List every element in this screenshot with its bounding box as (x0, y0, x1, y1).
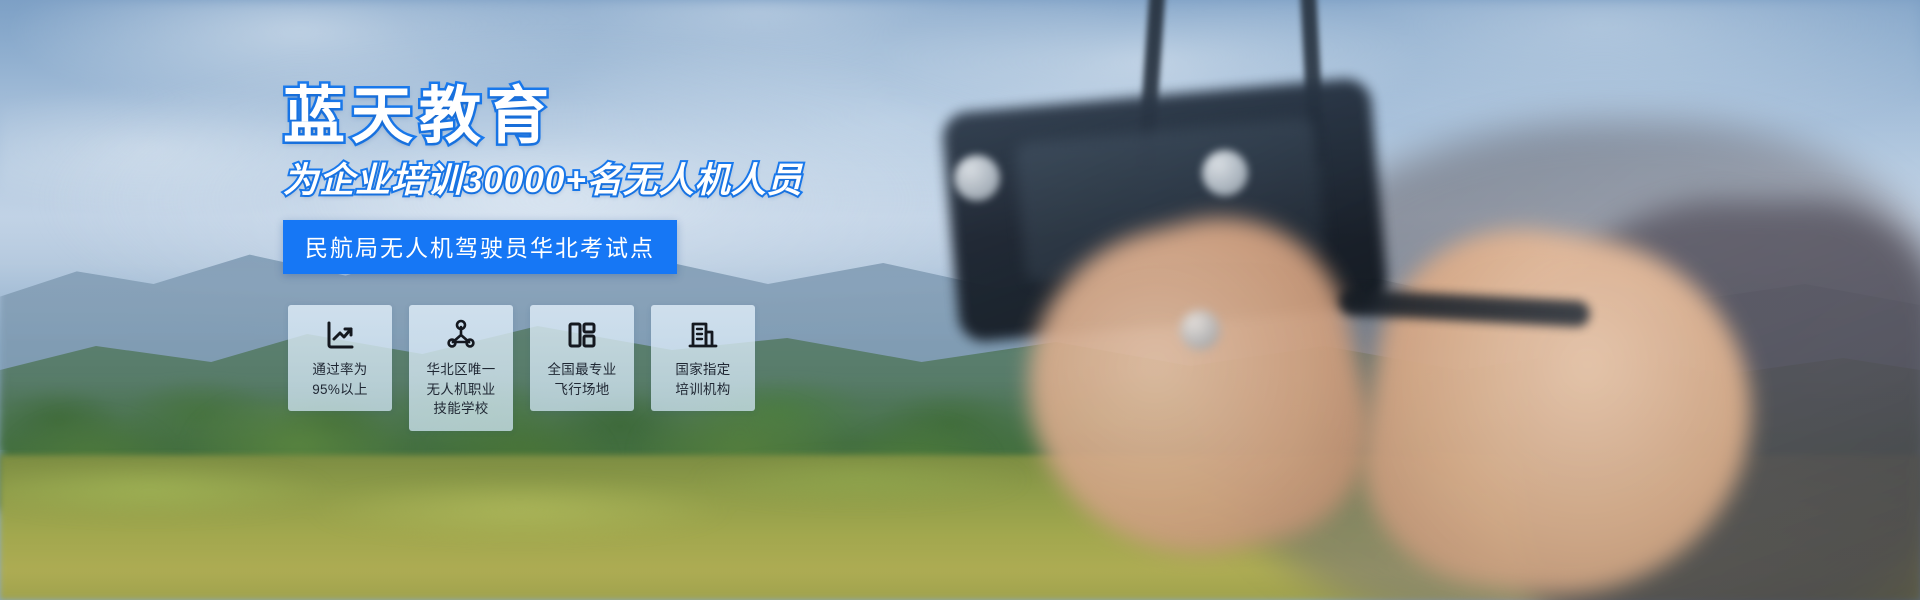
feature-card-text: 通过率为 95%以上 (312, 360, 368, 399)
feature-card-text: 全国最专业 飞行场地 (548, 360, 617, 399)
feature-line: 技能学校 (427, 399, 496, 419)
feature-line: 全国最专业 (548, 360, 617, 380)
feature-line: 通过率为 (312, 360, 368, 380)
hero-banner: 蓝天教育 为企业培训30000+名无人机人员 民航局无人机驾驶员华北考试点 通过… (0, 0, 1920, 600)
feature-card-only-school[interactable]: 华北区唯一 无人机职业 技能学校 (409, 305, 513, 431)
banner-subheadline: 为企业培训30000+名无人机人员 (283, 163, 803, 198)
building-institution-icon (687, 319, 719, 351)
feature-card-text: 华北区唯一 无人机职业 技能学校 (427, 360, 496, 419)
network-nodes-icon (445, 319, 477, 351)
certification-badge: 民航局无人机驾驶员华北考试点 (283, 220, 677, 274)
feature-line: 无人机职业 (427, 380, 496, 400)
feature-line: 华北区唯一 (427, 360, 496, 380)
feature-line: 培训机构 (675, 380, 730, 400)
trend-up-chart-icon (324, 319, 356, 351)
feature-card-national-institution[interactable]: 国家指定 培训机构 (651, 305, 755, 411)
banner-content: 蓝天教育 为企业培训30000+名无人机人员 民航局无人机驾驶员华北考试点 通过… (0, 0, 1920, 600)
feature-line: 95%以上 (312, 380, 368, 400)
feature-line: 飞行场地 (548, 380, 617, 400)
feature-line: 国家指定 (675, 360, 730, 380)
feature-card-text: 国家指定 培训机构 (675, 360, 730, 399)
feature-card-flight-field[interactable]: 全国最专业 飞行场地 (530, 305, 634, 411)
banner-headline: 蓝天教育 (283, 86, 555, 148)
feature-card-pass-rate[interactable]: 通过率为 95%以上 (288, 305, 392, 411)
feature-card-list: 通过率为 95%以上 华北区唯一 无人机职业 (288, 305, 755, 431)
layout-grid-icon (566, 319, 598, 351)
